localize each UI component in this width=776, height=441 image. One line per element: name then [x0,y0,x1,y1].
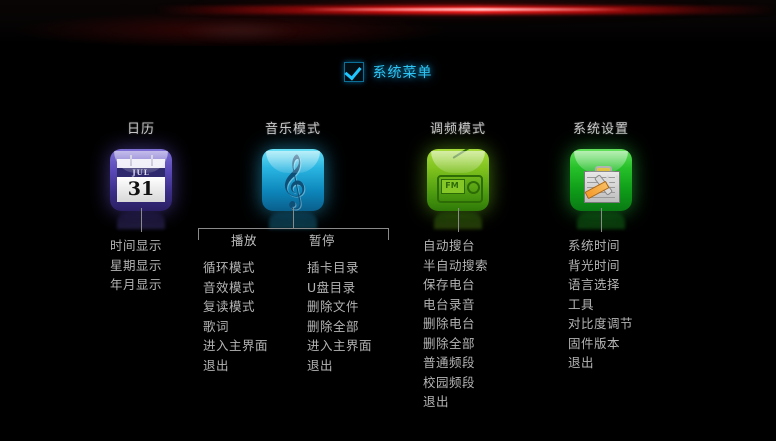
treble-clef-glyph: 𝄞 [262,149,324,211]
list-item[interactable]: 半自动搜索 [423,256,488,276]
calendar-icon[interactable]: JUL 31 [110,149,172,211]
list-item[interactable]: 自动搜台 [423,236,488,256]
list-item[interactable]: 工具 [568,295,633,315]
calendar-month-label: JUL [117,168,165,177]
checkbox-checked-icon [344,62,364,82]
list-item[interactable]: 删除全部 [307,317,372,337]
page-title: 系统菜单 [373,62,433,82]
list-item[interactable]: U盘目录 [307,278,372,298]
column-header-calendar: 日历 [110,118,172,137]
icon-wrap-fm: FM [427,149,489,211]
connector-line-settings [601,208,602,232]
menu-column-music: 音乐模式 𝄞 [262,118,324,211]
page-title-row: 系统菜单 [0,62,776,82]
connector-drop-play [198,228,199,240]
list-item[interactable]: 退出 [307,356,372,376]
list-item[interactable]: 保存电台 [423,275,488,295]
red-streak-highlight [300,8,630,11]
list-item[interactable]: 复读模式 [203,297,268,317]
settings-toolbox-icon[interactable] [570,149,632,211]
list-item[interactable]: 退出 [568,353,633,373]
subgroup-header-pause: 暂停 [309,230,335,249]
menu-items-calendar: 时间显示 星期显示 年月显示 [110,236,162,295]
connector-line-calendar [141,208,142,232]
calendar-ring [151,155,153,166]
connector-line-fm [458,208,459,232]
menu-column-calendar: 日历 JUL 31 时间显示 星期显示 年月显示 [110,118,172,211]
red-glow [120,0,776,30]
menu-items-fm: 自动搜台 半自动搜索 保存电台 电台录音 删除电台 删除全部 普通频段 校园频段… [423,236,488,412]
menu-items-settings: 系统时间 背光时间 语言选择 工具 对比度调节 固件版本 退出 [568,236,633,373]
list-item[interactable]: 时间显示 [110,236,162,256]
menu-column-fm: 调频模式 FM 自动搜台 半自动搜索 保存电台 电台录音 删除电台 删除全部 普… [427,118,489,211]
menu-items-pause: 插卡目录 U盘目录 删除文件 删除全部 进入主界面 退出 [307,258,372,375]
list-item[interactable]: 音效模式 [203,278,268,298]
radio-icon[interactable]: FM [427,149,489,211]
column-header-settings: 系统设置 [570,118,632,137]
list-item[interactable]: 语言选择 [568,275,633,295]
icon-wrap-settings [570,149,632,211]
radio-tuning-knob [467,181,480,194]
list-item[interactable]: 星期显示 [110,256,162,276]
list-item[interactable]: 歌词 [203,317,268,337]
menu-items-play: 循环模式 音效模式 复读模式 歌词 进入主界面 退出 [203,258,268,375]
list-item[interactable]: 循环模式 [203,258,268,278]
top-banner [0,0,776,46]
list-item[interactable]: 进入主界面 [203,336,268,356]
column-header-music: 音乐模式 [262,118,324,137]
connector-stem-music [293,208,294,228]
calendar-day-label: 31 [117,177,165,202]
list-item[interactable]: 固件版本 [568,334,633,354]
list-item[interactable]: 普通频段 [423,353,488,373]
list-item[interactable]: 校园频段 [423,373,488,393]
list-item[interactable]: 系统时间 [568,236,633,256]
list-item[interactable]: 删除文件 [307,297,372,317]
music-note-icon[interactable]: 𝄞 [262,149,324,211]
connector-drop-pause [388,228,389,240]
list-item[interactable]: 电台录音 [423,295,488,315]
icon-wrap-music: 𝄞 [262,149,324,211]
radio-antenna [452,149,479,159]
calendar-ring [130,155,132,166]
menu-column-settings: 系统设置 系统时间 背光时间 语言选择 工具 对比度调节 固件版本 [570,118,632,211]
list-item[interactable]: 年月显示 [110,275,162,295]
list-item[interactable]: 删除全部 [423,334,488,354]
radio-screen-label: FM [442,180,462,191]
calendar-top-bar [117,159,165,168]
list-item[interactable]: 对比度调节 [568,314,633,334]
list-item[interactable]: 进入主界面 [307,336,372,356]
list-item[interactable]: 删除电台 [423,314,488,334]
subgroup-header-play: 播放 [231,230,257,249]
list-item[interactable]: 插卡目录 [307,258,372,278]
column-header-fm: 调频模式 [427,118,489,137]
icon-wrap-calendar: JUL 31 [110,149,172,211]
list-item[interactable]: 背光时间 [568,256,633,276]
list-item[interactable]: 退出 [423,392,488,412]
list-item[interactable]: 退出 [203,356,268,376]
connector-bar-music [198,228,388,229]
